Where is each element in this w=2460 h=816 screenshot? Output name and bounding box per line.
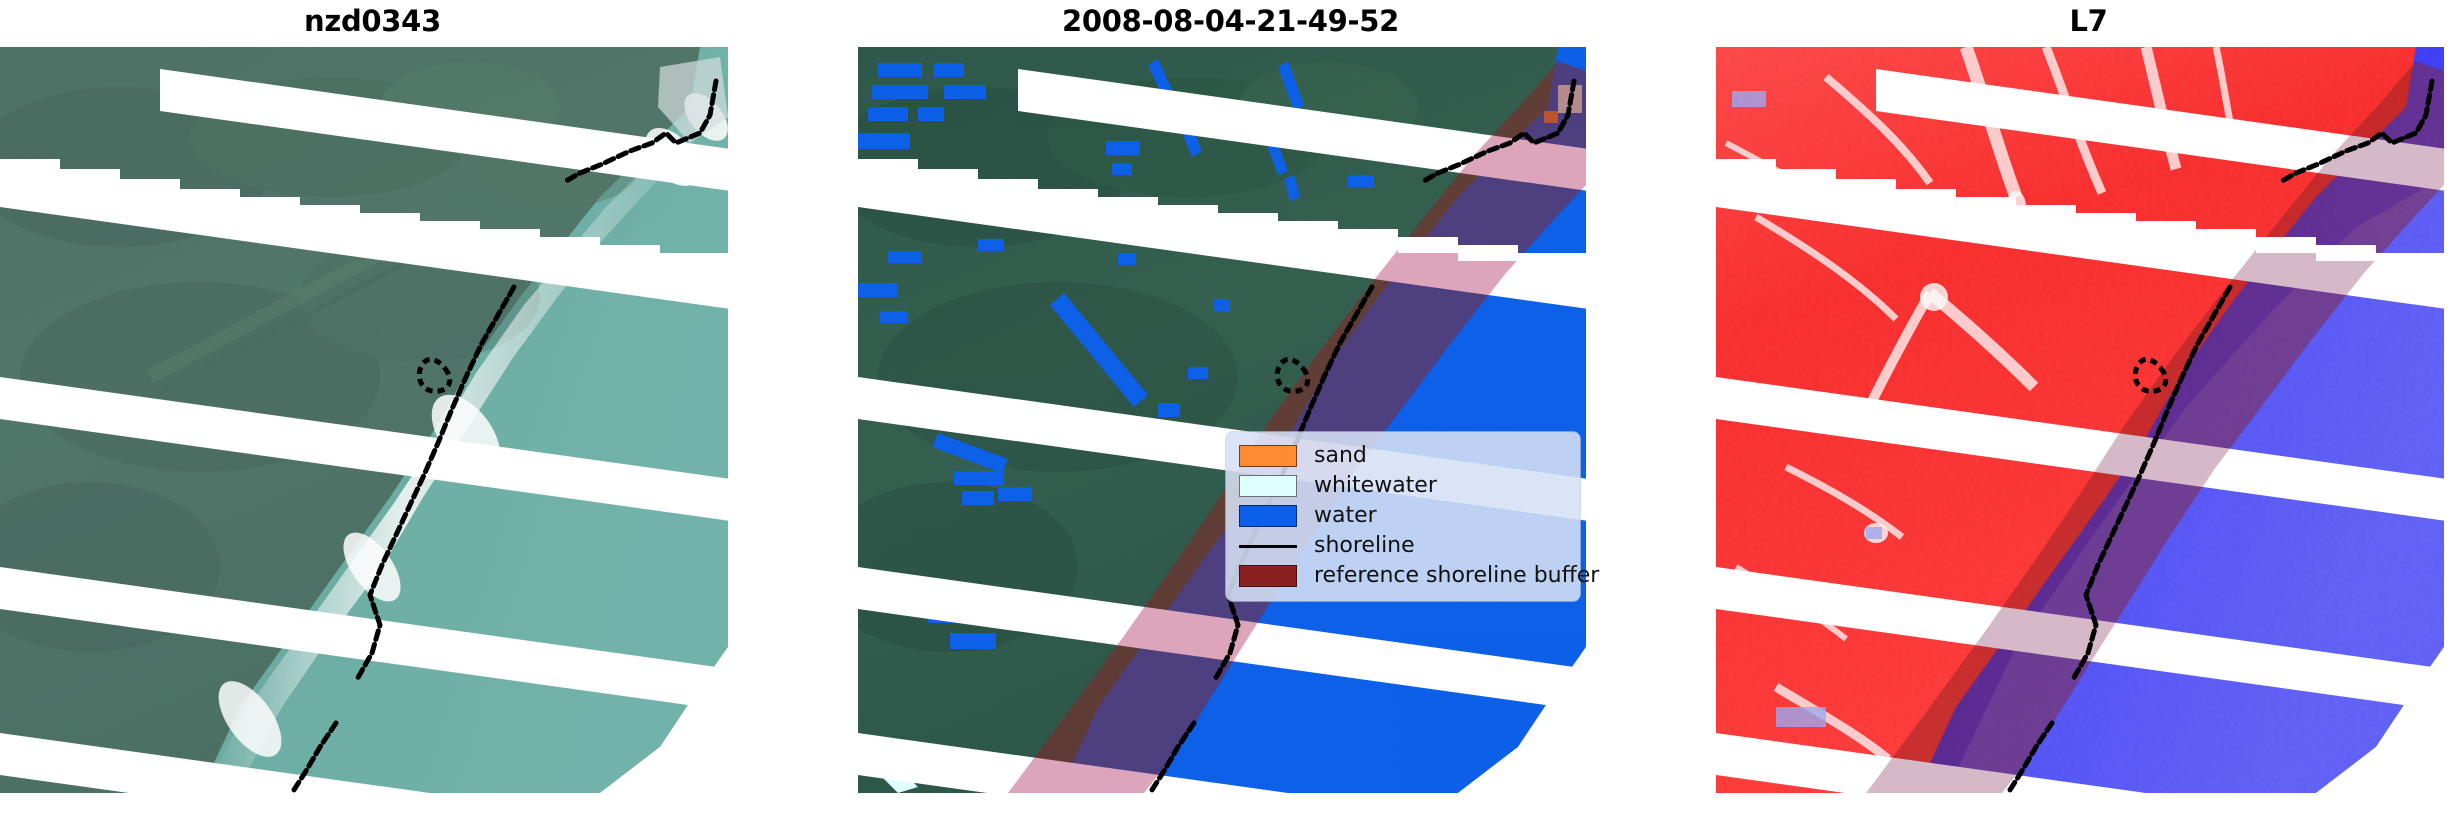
legend-item-sand: sand bbox=[1239, 441, 1566, 471]
shoreline-overlay-classified bbox=[858, 47, 1603, 793]
legend-item-whitewater: whitewater bbox=[1239, 471, 1566, 501]
legend-swatch-sand bbox=[1239, 445, 1297, 467]
panel-classified-image bbox=[858, 47, 1603, 793]
legend-swatch-reference-shoreline-buffer bbox=[1239, 565, 1297, 587]
panel-rgb-image bbox=[0, 47, 745, 793]
panel-classified-axes: sand whitewater water shoreline referenc… bbox=[858, 47, 1603, 793]
panel-index-axes bbox=[1716, 47, 2460, 793]
panel-rgb-axes bbox=[0, 47, 745, 793]
panel-index-image bbox=[1716, 47, 2460, 793]
shoreline-overlay-rgb bbox=[0, 47, 745, 793]
legend-swatch-shoreline bbox=[1239, 545, 1297, 548]
legend-item-reference-shoreline-buffer: reference shoreline buffer bbox=[1239, 561, 1566, 591]
legend-item-water: water bbox=[1239, 501, 1566, 531]
panel-classified: 2008-08-04-21-49-52 bbox=[858, 0, 1603, 816]
legend-swatch-water bbox=[1239, 505, 1297, 527]
map-legend: sand whitewater water shoreline referenc… bbox=[1226, 432, 1580, 601]
legend-label-shoreline: shoreline bbox=[1314, 535, 1415, 557]
legend-item-shoreline: shoreline bbox=[1239, 531, 1566, 561]
legend-label-whitewater: whitewater bbox=[1314, 475, 1437, 497]
shoreline-overlay-index bbox=[1716, 47, 2460, 793]
legend-swatch-whitewater bbox=[1239, 475, 1297, 497]
legend-label-water: water bbox=[1314, 505, 1377, 527]
panel-title-index: L7 bbox=[1716, 4, 2460, 38]
legend-label-reference-shoreline-buffer: reference shoreline buffer bbox=[1314, 565, 1599, 587]
panel-title-rgb: nzd0343 bbox=[0, 4, 745, 38]
panel-title-classified: 2008-08-04-21-49-52 bbox=[858, 4, 1603, 38]
panel-rgb: nzd0343 bbox=[0, 0, 745, 816]
legend-label-sand: sand bbox=[1314, 445, 1367, 467]
figure-root: nzd0343 bbox=[0, 0, 2460, 816]
panel-index: L7 bbox=[1716, 0, 2460, 816]
